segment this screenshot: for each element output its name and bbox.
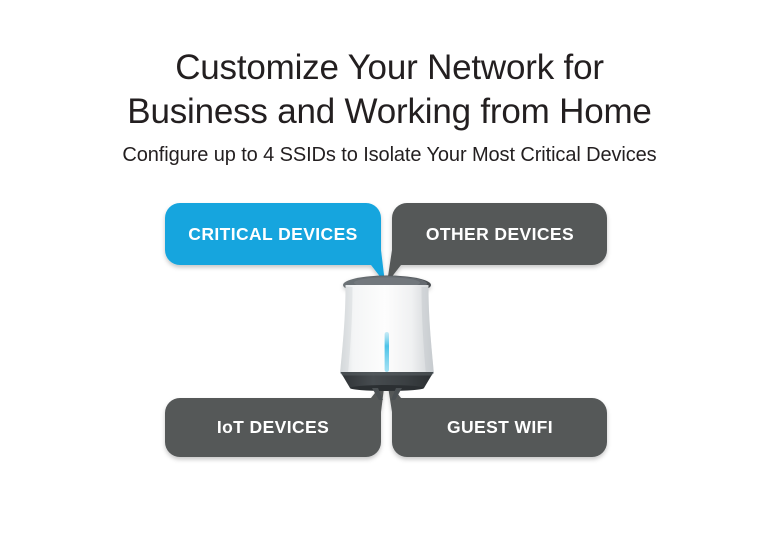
router-led-strip — [385, 332, 389, 372]
bubble-label-other-devices: OTHER DEVICES — [392, 224, 608, 245]
infographic-canvas: Customize Your Network for Business and … — [0, 0, 779, 536]
network-diagram — [0, 0, 779, 536]
router-base-foot — [350, 385, 424, 391]
router-base-rim — [341, 372, 434, 376]
orbi-pro-router — [340, 276, 434, 401]
bubble-label-critical-devices: CRITICAL DEVICES — [165, 224, 381, 245]
diagram-svg — [0, 0, 779, 536]
bubble-label-guest-wifi: GUEST WIFI — [392, 417, 608, 438]
bubble-label-iot-devices: IoT DEVICES — [165, 417, 381, 438]
